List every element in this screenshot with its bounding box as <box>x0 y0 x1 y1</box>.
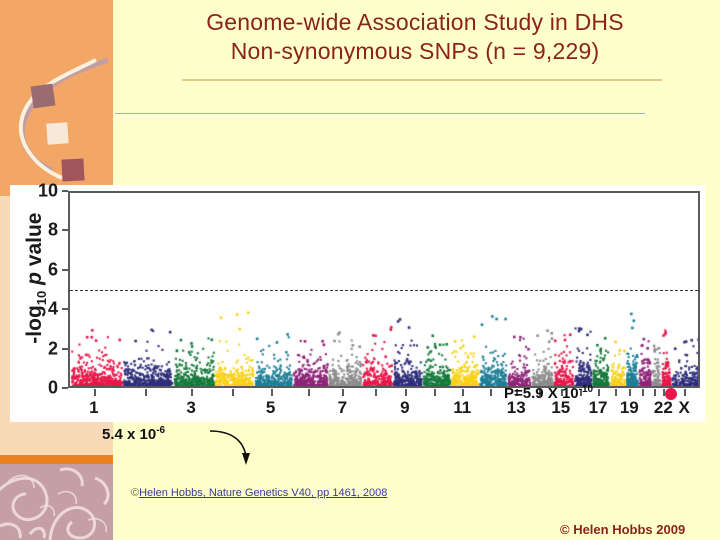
x-axis-tick-mark <box>375 389 377 396</box>
page-title: Genome-wide Association Study in DHS Non… <box>120 8 710 66</box>
x-axis-tick-label: 3 <box>186 398 195 418</box>
x-axis-tick-mark <box>145 389 147 396</box>
x-axis-tick-mark <box>615 389 617 396</box>
legend-label-text: P=5.9 X 10 <box>504 385 579 402</box>
x-axis-tick-mark <box>232 389 234 396</box>
x-axis-tick-mark <box>191 389 193 396</box>
decor-orange-stripe <box>0 455 113 464</box>
y-axis-tick-label: 10 <box>18 181 58 202</box>
title-line-2: Non-synonymous SNPs (n = 9,229) <box>120 37 710 66</box>
plot-area <box>68 191 700 388</box>
x-axis-tick-label: 5 <box>266 398 275 418</box>
x-axis-tick-mark <box>94 389 96 396</box>
copyright-symbol-icon: © <box>131 487 139 499</box>
x-axis-tick-mark <box>308 389 310 396</box>
title-line-1: Genome-wide Association Study in DHS <box>120 8 710 37</box>
significance-threshold-line <box>70 290 698 291</box>
x-axis-tick-mark <box>342 389 344 396</box>
x-axis-tick-label: 9 <box>400 398 409 418</box>
x-axis-tick-mark <box>271 389 273 396</box>
x-axis-tick-mark <box>405 389 407 396</box>
x-axis-tick-mark <box>684 389 686 396</box>
threshold-annotation: 5.4 x 10-6 <box>102 425 165 443</box>
threshold-annotation-exponent: -6 <box>156 425 165 436</box>
x-axis-tick-mark <box>490 389 492 396</box>
x-axis-tick-mark <box>462 389 464 396</box>
x-axis-tick-mark <box>654 389 656 396</box>
x-axis-tick-mark <box>598 389 600 396</box>
x-axis-tick-label: 1 <box>89 398 98 418</box>
x-axis-tick-mark <box>642 389 644 396</box>
x-axis-tick-label: X <box>679 398 690 418</box>
y-axis-tick-label: 4 <box>18 299 58 320</box>
title-divider <box>182 79 662 81</box>
decor-square-1 <box>31 84 56 109</box>
legend-label: P=5.9 X 10-10 <box>504 384 593 402</box>
citation-link[interactable]: Helen Hobbs, Nature Genetics V40, pp 146… <box>139 487 387 499</box>
citation[interactable]: ©Helen Hobbs, Nature Genetics V40, pp 14… <box>131 487 387 499</box>
manhattan-plot-panel: -log10 p value 0246810 13579111315171922… <box>10 185 705 422</box>
x-axis-tick-label: 7 <box>338 398 347 418</box>
copyright-notice: © Helen Hobbs 2009 <box>560 522 685 537</box>
x-axis-tick-label: 19 <box>620 398 639 418</box>
y-axis-tick-label: 2 <box>18 338 58 359</box>
x-axis-tick-label: 22 <box>654 398 673 418</box>
y-axis-tick-label: 0 <box>18 378 58 399</box>
threshold-annotation-text: 5.4 x 10 <box>102 426 156 443</box>
decor-square-3 <box>61 158 84 181</box>
y-axis-tick-label: 6 <box>18 259 58 280</box>
x-axis-tick-mark <box>434 389 436 396</box>
legend-marker-dot <box>665 388 677 400</box>
decor-orange-block <box>0 0 113 196</box>
blue-divider <box>115 113 645 114</box>
x-axis-tick-mark <box>629 389 631 396</box>
x-axis-tick-label: 11 <box>453 398 471 418</box>
decor-paisley-pattern <box>0 464 113 540</box>
decor-square-2 <box>46 122 68 144</box>
legend-label-exponent: -10 <box>579 384 593 395</box>
slide-canvas: Genome-wide Association Study in DHS Non… <box>0 0 720 540</box>
annotation-arrow-icon <box>206 425 266 475</box>
y-axis-tick-label: 8 <box>18 220 58 241</box>
